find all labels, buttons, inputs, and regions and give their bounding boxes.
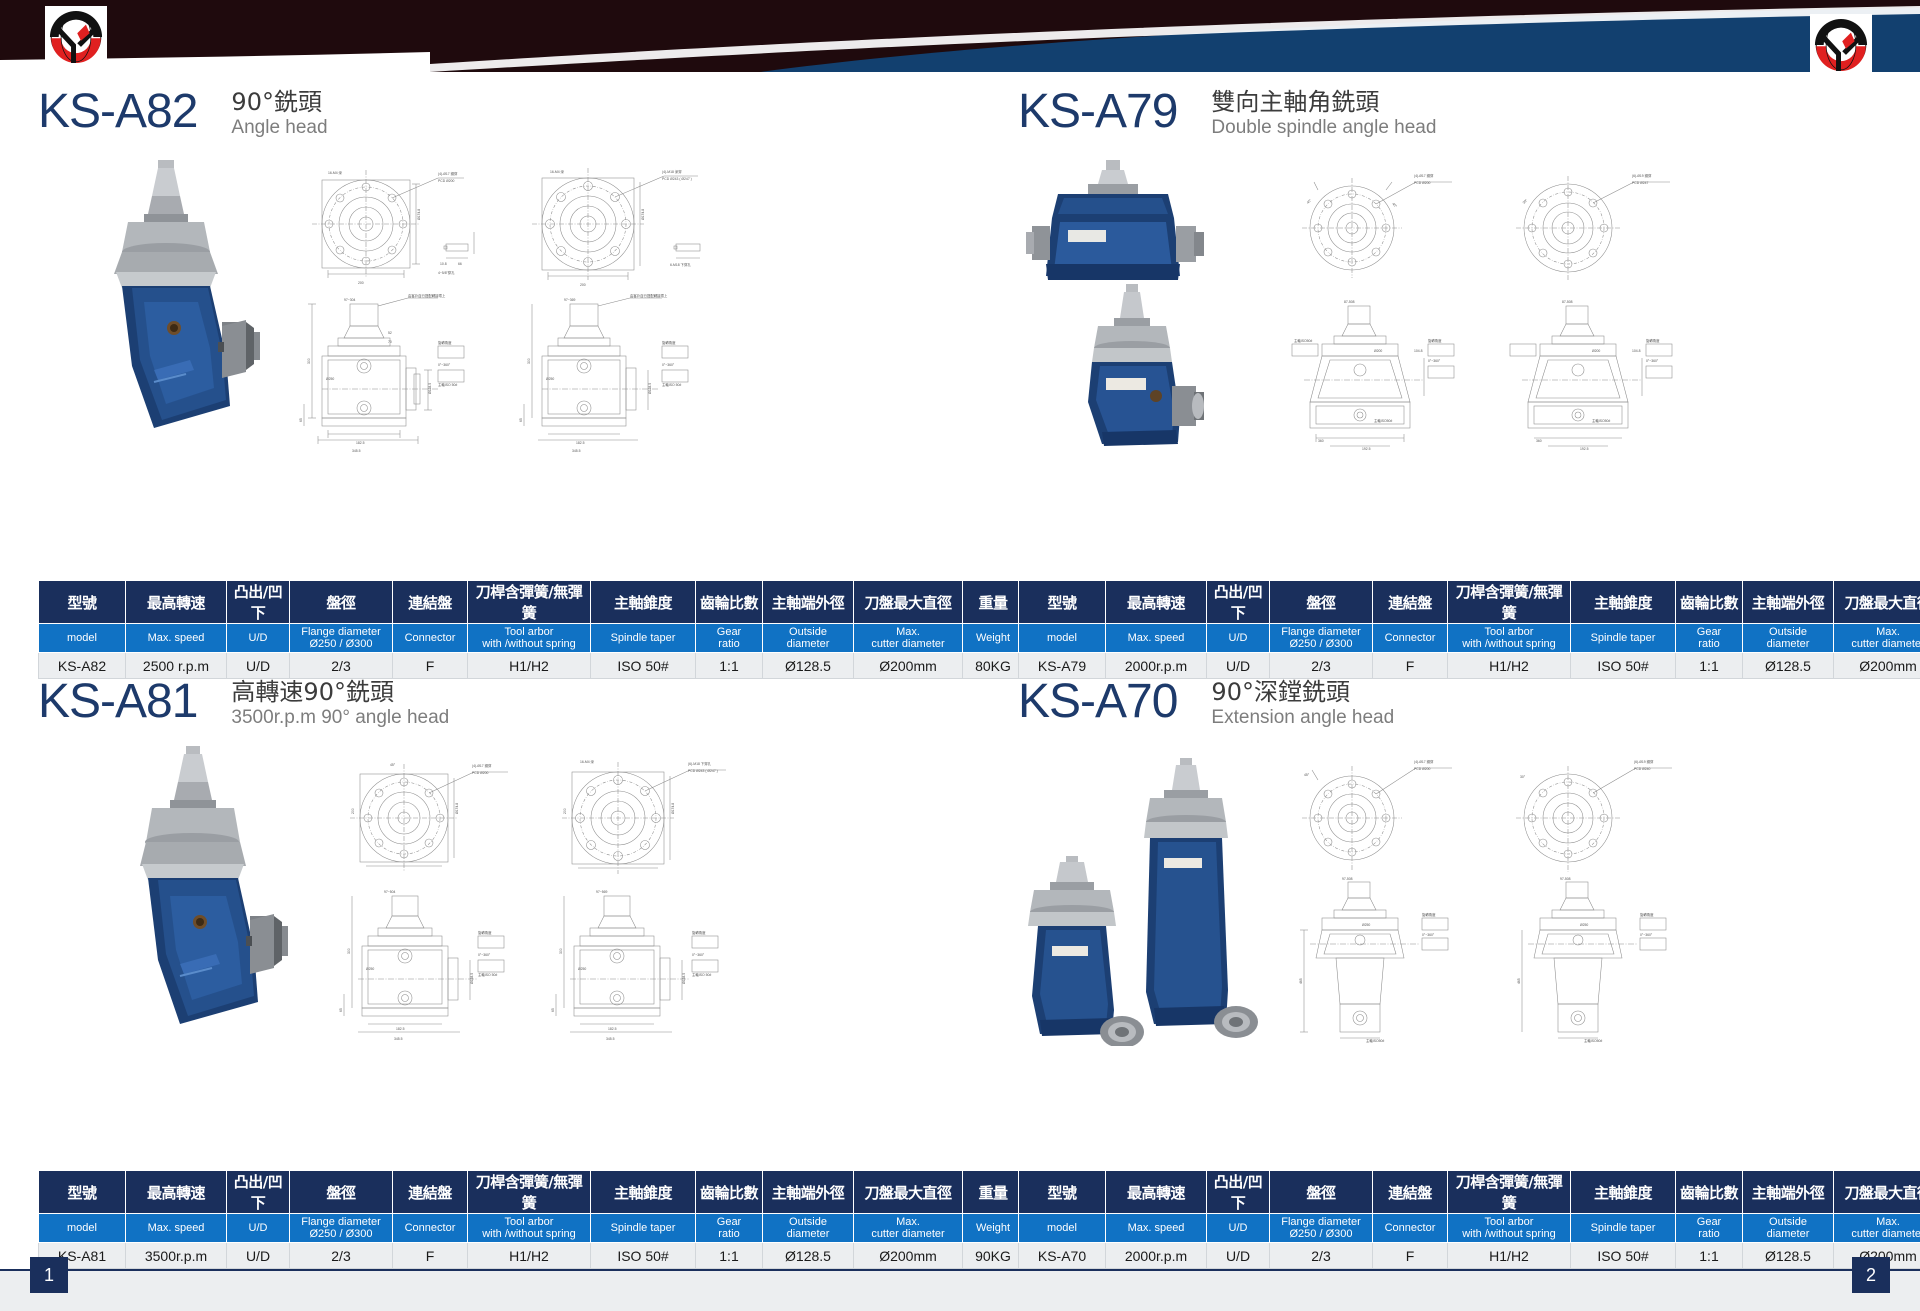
drawing-dim: 345.5 (572, 449, 581, 453)
spec-header-zh-weight: 重量 (963, 1171, 1024, 1214)
drawing-dim: 30° (1522, 198, 1529, 205)
spec-header-zh-cutter: 刀盤最大直徑 (854, 1171, 963, 1214)
txt: ratio (1698, 638, 1719, 650)
product-photo (1018, 746, 1268, 1046)
drawing-dim: 200 (563, 808, 567, 814)
txt: Gear (717, 1216, 741, 1228)
drawing-dim: Ø128.5 (682, 973, 686, 984)
spec-header-en-model: model (1019, 624, 1106, 653)
drawing-dim: 97~569 (596, 890, 608, 894)
txt: Tool arbor (505, 626, 554, 638)
drawing-dim: 300 (559, 948, 563, 954)
product-title-row: KS-A82 90°銑頭 Angle head (38, 86, 918, 148)
spec-header-zh-arbor: 刀桿含彈簧/無彈簧 (1448, 1171, 1571, 1214)
drawing-dim: 45° (1391, 202, 1398, 209)
txt: Gear (1697, 1216, 1721, 1228)
product-model-code: KS-A81 (38, 676, 197, 728)
spec-header-zh-ud: 凸出/凹下 (1207, 1171, 1270, 1214)
product-figure-ks-a79: (4)-Ø17 鑽穿 PCD Ø200 45° 45° (6)-Ø1 (1018, 156, 1898, 456)
spec-value-arbor: H1/H2 (468, 653, 591, 679)
spec-header-en-arbor: Tool arborwith /without spring (468, 1214, 591, 1243)
drawing-dim: Ø128.5 (428, 383, 432, 394)
technical-drawing-section-left: 97~304 由客戶自行搭配轉接環上 52 70 182.5 345.5 300… (288, 294, 503, 456)
drawing-note: 0°~360° (1422, 933, 1435, 937)
technical-drawing-flange-front: 45° (4)-Ø17 鑽穿 PCD Ø200 Ø174.8 200 (328, 752, 528, 882)
drawing-note: 旋轉角度 (1640, 912, 1654, 917)
txt: model (67, 1222, 97, 1234)
product-title-en: Extension angle head (1211, 706, 1394, 729)
product-block-ks-a82: KS-A82 90°銑頭 Angle head (38, 86, 918, 456)
technical-drawing-section-right: 97~569 182.5 345.5 300 65 Ø128.5 旋轉角度 0°… (538, 884, 748, 1046)
product-figure-ks-a81: 45° (4)-Ø17 鑽穿 PCD Ø200 Ø174.8 200 (38, 746, 918, 1046)
product-title-en: Angle head (231, 116, 327, 139)
spec-header-en-flange: Flange diameterØ250 / Ø300 (290, 1214, 393, 1243)
txt: cutter diameter (871, 638, 944, 650)
drawing-note: 4~5/8"穿孔 (438, 270, 455, 275)
txt: Max. (1876, 626, 1900, 638)
drawing-dim: Ø174.8 (671, 803, 675, 814)
drawing-note: (6)-Ø19 鑽穿 (1632, 173, 1652, 178)
drawing-note: 旋轉角度 (1428, 338, 1442, 343)
txt: Ø250 / Ø300 (310, 638, 373, 650)
page-number-left: 1 (30, 1257, 68, 1293)
spec-header-zh-outside: 主軸端外徑 (763, 581, 854, 624)
drawing-dim: 45° (1306, 198, 1313, 205)
logo-mark-icon (45, 6, 107, 68)
drawing-dim: 465 (1517, 978, 1521, 984)
txt: Connector (405, 1222, 456, 1234)
spec-header-en-gear: Gearratio (696, 624, 763, 653)
spec-header-zh-model: 型號 (1019, 1171, 1106, 1214)
drawing-note: 0°~360° (478, 953, 491, 957)
spec-header-zh-speed: 最高轉速 (1106, 581, 1207, 624)
company-logo-left (45, 6, 107, 68)
spec-header-zh-arbor: 刀桿含彈簧/無彈簧 (1448, 581, 1571, 624)
drawing-dim: 65 (551, 1008, 555, 1012)
spec-header-en-cutter: Max.cutter diameter (854, 1214, 963, 1243)
technical-drawing-flange-rear: 16-M4 深 (6)-M18 下穿孔 PCD Ø243 ( Ø247 ) Ø1… (538, 752, 743, 882)
spec-value-connector: F (393, 653, 468, 679)
spec-value-gear: 1:1 (696, 653, 763, 679)
technical-drawing-flange-front: (4)-Ø17 鑽穿 PCD Ø200 45° (1274, 750, 1474, 882)
txt: Ø250 / Ø300 (310, 1228, 373, 1240)
spec-header-en-row: model Max. speed U/D Flange diameterØ250… (39, 624, 1024, 653)
drawing-note: PCD Ø200 (472, 771, 489, 775)
product-block-ks-a81: KS-A81 高轉速90°銑頭 3500r.p.m 90° angle head (38, 676, 918, 1046)
spec-header-zh-row: 型號 最高轉速 凸出/凹下 盤徑 連結盤 刀桿含彈簧/無彈簧 主軸錐度 齒輪比數… (39, 1171, 1024, 1214)
spec-value-taper: ISO 50# (591, 653, 696, 679)
spec-value-cutter: Ø200mm (1834, 653, 1920, 679)
spec-header-zh-outside: 主軸端外徑 (763, 1171, 854, 1214)
drawing-note: (4)-Ø17 鑽穿 (1414, 173, 1434, 178)
technical-drawing-flange-rear: 16-M4 深 (4)-M18 深穿 PCD Ø243 ( Ø247 ) 200… (506, 162, 721, 292)
spec-header-zh-taper: 主軸錐度 (591, 1171, 696, 1214)
txt: model (1047, 1222, 1077, 1234)
spec-value-flange: 2/3 (1270, 653, 1373, 679)
spec-header-en-flange: Flange diameterØ250 / Ø300 (1270, 1214, 1373, 1243)
spec-header-en-weight: Weight (963, 624, 1024, 653)
drawing-note: PCD Ø200 (1414, 181, 1431, 185)
spec-header-en-taper: Spindle taper (591, 1214, 696, 1243)
drawing-dim: 65 (519, 418, 523, 422)
product-photo (1018, 156, 1268, 456)
spec-header-zh-cutter: 刀盤最大直徑 (1834, 1171, 1920, 1214)
drawing-dim: 97~504 (384, 890, 396, 894)
logo-mark-icon (1810, 14, 1872, 72)
txt: ratio (718, 1228, 739, 1240)
drawing-note: 旋轉角度 (692, 930, 706, 935)
drawing-note: 主軸ISO 50# (692, 972, 711, 977)
spec-header-zh-ud: 凸出/凹下 (227, 581, 290, 624)
txt: with /without spring (482, 638, 576, 650)
txt: with /without spring (1462, 638, 1556, 650)
spec-header-en-flange: Flange diameterØ250 / Ø300 (290, 624, 393, 653)
spec-header-en-model: model (39, 624, 126, 653)
product-title-en: Double spindle angle head (1211, 116, 1436, 139)
drawing-dim: 200 (580, 283, 586, 287)
txt: Connector (405, 632, 456, 644)
drawing-note: PCD Ø243 ( Ø247 ) (662, 177, 692, 181)
drawing-dim: Ø250 (546, 377, 554, 381)
drawing-dim: 360 (1318, 439, 1324, 443)
product-model-code: KS-A82 (38, 86, 197, 138)
spec-header-en-speed: Max. speed (126, 624, 227, 653)
drawing-dim: 97~369 (564, 298, 576, 302)
spec-table-ks-a82: 型號 最高轉速 凸出/凹下 盤徑 連結盤 刀桿含彈簧/無彈簧 主軸錐度 齒輪比數… (38, 580, 1024, 679)
drawing-note: 主軸ISO50# (1584, 1038, 1602, 1043)
drawing-dim: 182.5 (356, 441, 365, 445)
spec-header-en-cutter: Max.cutter diameter (1834, 1214, 1920, 1243)
txt: Outside (1769, 626, 1807, 638)
technical-drawing-section-right: 97-508 Ø250 465 旋轉角度 0°~360° 主軸ISO50# (1490, 874, 1705, 1046)
drawing-dim: 345.5 (606, 1037, 615, 1041)
drawing-dim: 182.5 (608, 1027, 617, 1031)
spec-value-row: KS-A82 2500 r.p.m U/D 2/3 F H1/H2 ISO 50… (39, 653, 1024, 679)
spec-header-zh-row: 型號 最高轉速 凸出/凹下 盤徑 連結盤 刀桿含彈簧/無彈簧 主軸錐度 齒輪比數… (1019, 1171, 1920, 1214)
page-number-right: 2 (1852, 1257, 1890, 1293)
drawing-note: 旋轉角度 (1646, 338, 1660, 343)
drawing-dim: 87-508 (1344, 300, 1355, 304)
drawing-dim: 345.5 (394, 1037, 403, 1041)
spec-header-zh-ud: 凸出/凹下 (227, 1171, 290, 1214)
drawing-dim: 200 (351, 808, 355, 814)
spec-table-ks-a81: 型號 最高轉速 凸出/凹下 盤徑 連結盤 刀桿含彈簧/無彈簧 主軸錐度 齒輪比數… (38, 1170, 1024, 1269)
drawing-dim: 192.5 (1580, 447, 1589, 451)
spec-header-zh-model: 型號 (39, 1171, 126, 1214)
drawing-dim: 465 (1299, 978, 1303, 984)
txt: Outside (1769, 1216, 1807, 1228)
drawing-note: 主軸ISO50# (1592, 418, 1610, 423)
drawing-note: 0°~360° (1646, 359, 1659, 363)
spec-header-zh-outside: 主軸端外徑 (1743, 1171, 1834, 1214)
product-title-zh: 高轉速90°銑頭 (231, 678, 449, 706)
txt: U/D (1229, 632, 1248, 644)
drawing-dim: 45° (1304, 773, 1310, 777)
product-figure-ks-a82: 16-M4 深 (4)-Ø17 鑽穿 PCD Ø200 200 10.8 66 … (38, 156, 918, 456)
drawing-note: 旋轉角度 (478, 930, 492, 935)
spec-header-en-flange: Flange diameterØ250 / Ø300 (1270, 624, 1373, 653)
drawing-dim: 65 (339, 1008, 343, 1012)
drawing-dim: Ø250 (1362, 923, 1370, 927)
spec-value-model: KS-A79 (1019, 653, 1106, 679)
spec-header-zh-gear: 齒輪比數 (1676, 581, 1743, 624)
product-title-row: KS-A81 高轉速90°銑頭 3500r.p.m 90° angle head (38, 676, 918, 738)
spec-header-en-row: model Max. speed U/D Flange diameterØ250… (39, 1214, 1024, 1243)
spec-header-en-model: model (39, 1214, 126, 1243)
drawing-note: 主軸ISO 50# (438, 382, 457, 387)
spec-header-zh-connector: 連結盤 (1373, 1171, 1448, 1214)
drawing-note: (6)-M18 下穿孔 (688, 761, 712, 766)
txt: Spindle taper (611, 632, 676, 644)
header-swoosh-graphic (0, 0, 1920, 72)
txt: Max. speed (148, 632, 205, 644)
drawing-dim: Ø250 (366, 967, 374, 971)
drawing-note: 16-M4 深 (580, 759, 595, 764)
drawing-note: PCD Ø200 (438, 179, 455, 183)
txt: with /without spring (1462, 1228, 1556, 1240)
drawing-dim: Ø200 (1592, 349, 1600, 353)
technical-drawing-section-right: 87-508 Ø200 104.8 360 192.5 旋轉角度 0°~360°… (1490, 292, 1705, 456)
txt: Flange diameter (1281, 1216, 1361, 1228)
drawing-note: 0°~360° (1428, 359, 1441, 363)
spec-value-arbor: H1/H2 (1448, 653, 1571, 679)
drawing-note: 主軸ISO 50# (662, 382, 681, 387)
drawing-dim: 70 (388, 340, 392, 344)
spec-header-zh-model: 型號 (39, 581, 126, 624)
spec-header-en-arbor: Tool arborwith /without spring (468, 624, 591, 653)
drawing-note: 旋轉角度 (1422, 912, 1436, 917)
drawing-dim: 360 (1536, 439, 1542, 443)
txt: U/D (249, 1222, 268, 1234)
drawing-dim: 192.5 (1362, 447, 1371, 451)
spec-header-en-cutter: Max.cutter diameter (854, 624, 963, 653)
spec-header-zh-connector: 連結盤 (393, 1171, 468, 1214)
spec-header-zh-taper: 主軸錐度 (1571, 1171, 1676, 1214)
product-photo (58, 156, 298, 456)
txt: Weight (976, 632, 1010, 644)
spec-header-en-connector: Connector (1373, 1214, 1448, 1243)
spec-header-zh-ud: 凸出/凹下 (1207, 581, 1270, 624)
txt: Max. speed (1128, 632, 1185, 644)
spec-table-ks-a79: 型號 最高轉速 凸出/凹下 盤徑 連結盤 刀桿含彈簧/無彈簧 主軸錐度 齒輪比數… (1018, 580, 1920, 679)
drawing-dim: 66 (458, 262, 462, 266)
spec-header-en-outside: Outsidediameter (1743, 1214, 1834, 1243)
spec-header-en-row: model Max. speed U/D Flange diameterØ250… (1019, 1214, 1920, 1243)
txt: Outside (789, 626, 827, 638)
spec-table-ks-a70: 型號 最高轉速 凸出/凹下 盤徑 連結盤 刀桿含彈簧/無彈簧 主軸錐度 齒輪比數… (1018, 1170, 1920, 1269)
drawing-dim: Ø174.8 (417, 209, 421, 220)
drawing-note: (6)-Ø19 鑽穿 (1634, 759, 1654, 764)
drawing-dim: Ø250 (1580, 923, 1588, 927)
spec-header-zh-outside: 主軸端外徑 (1743, 581, 1834, 624)
txt: Flange diameter (301, 626, 381, 638)
spec-header-zh-taper: 主軸錐度 (591, 581, 696, 624)
technical-drawing-flange-rear: (6)-Ø19 鑽穿 PCD Ø240 30° (1488, 750, 1688, 882)
drawing-dim: Ø200 (1374, 349, 1382, 353)
product-photo (78, 746, 318, 1046)
spec-header-zh-arbor: 刀桿含彈簧/無彈簧 (468, 1171, 591, 1214)
drawing-dim: 182.5 (396, 1027, 405, 1031)
drawing-dim: Ø128.5 (470, 973, 474, 984)
spec-header-zh-gear: 齒輪比數 (696, 1171, 763, 1214)
txt: cutter diameter (1851, 1228, 1920, 1240)
spec-header-en-outside: Outsidediameter (763, 624, 854, 653)
txt: ratio (1698, 1228, 1719, 1240)
txt: Flange diameter (1281, 626, 1361, 638)
spec-header-en-arbor: Tool arborwith /without spring (1448, 1214, 1571, 1243)
txt: diameter (787, 638, 830, 650)
txt: Max. (896, 1216, 920, 1228)
product-title-en: 3500r.p.m 90° angle head (231, 706, 449, 729)
spec-header-en-taper: Spindle taper (591, 624, 696, 653)
technical-drawing-flange-rear: (6)-Ø19 鑽穿 PCD Ø247 30° (1488, 164, 1688, 292)
drawing-note: 由客戶自行搭配轉接環上 (630, 294, 668, 298)
company-logo-right (1810, 14, 1872, 72)
spec-header-zh-flange: 盤徑 (1270, 581, 1373, 624)
drawing-note: 0°~360° (1640, 933, 1653, 937)
txt: with /without spring (482, 1228, 576, 1240)
drawing-dim: Ø250 (326, 377, 334, 381)
drawing-note: (4)-Ø17 鑽穿 (472, 763, 492, 768)
txt: model (67, 632, 97, 644)
drawing-note: 0°~360° (662, 363, 675, 367)
drawing-dim: Ø250 (578, 967, 586, 971)
txt: Weight (976, 1222, 1010, 1234)
drawing-note: (4)-Ø17 鑽穿 (438, 171, 458, 176)
txt: Spindle taper (1591, 632, 1656, 644)
txt: Ø250 / Ø300 (1290, 638, 1353, 650)
spec-header-zh-row: 型號 最高轉速 凸出/凹下 盤徑 連結盤 刀桿含彈簧/無彈簧 主軸錐度 齒輪比數… (39, 581, 1024, 624)
txt: Max. (896, 626, 920, 638)
spec-header-en-gear: Gearratio (696, 1214, 763, 1243)
drawing-dim: 300 (347, 948, 351, 954)
spec-header-en-arbor: Tool arborwith /without spring (1448, 624, 1571, 653)
spec-header-zh-speed: 最高轉速 (1106, 1171, 1207, 1214)
product-title-zh: 90°銑頭 (231, 88, 327, 116)
drawing-note: 6-M18 下穿孔 (670, 262, 691, 267)
drawing-dim: 300 (527, 358, 531, 364)
txt: Max. speed (148, 1222, 205, 1234)
spec-header-en-row: model Max. speed U/D Flange diameterØ250… (1019, 624, 1920, 653)
drawing-note: 0°~360° (692, 953, 705, 957)
technical-drawing-flange-front: 16-M4 深 (4)-Ø17 鑽穿 PCD Ø200 200 10.8 66 … (288, 162, 498, 292)
spec-header-en-speed: Max. speed (1106, 624, 1207, 653)
technical-drawing-section-left: 87-508 Ø200 104.8 360 192.5 旋轉角度 0°~360°… (1274, 292, 1489, 456)
drawing-note: 16-M4 深 (550, 169, 565, 174)
txt: Gear (717, 626, 741, 638)
spec-header-en-speed: Max. speed (126, 1214, 227, 1243)
drawing-note: 主軸ISO50# (1374, 418, 1392, 423)
spec-header-zh-gear: 齒輪比數 (696, 581, 763, 624)
spec-header-en-speed: Max. speed (1106, 1214, 1207, 1243)
product-block-ks-a70: KS-A70 90°深鏜銑頭 Extension angle head (1018, 676, 1898, 1046)
product-title-row: KS-A70 90°深鏜銑頭 Extension angle head (1018, 676, 1898, 738)
txt: diameter (1767, 1228, 1810, 1240)
drawing-note: 主軸ISO50# (1294, 338, 1312, 343)
product-title-zh: 雙向主軸角銑頭 (1211, 88, 1436, 116)
txt: Connector (1385, 1222, 1436, 1234)
drawing-note: 0°~360° (438, 363, 451, 367)
spec-header-zh-connector: 連結盤 (393, 581, 468, 624)
txt: model (1047, 632, 1077, 644)
spec-value-speed: 2500 r.p.m (126, 653, 227, 679)
drawing-note: 主軸ISO 50# (478, 972, 497, 977)
spec-value-connector: F (1373, 653, 1448, 679)
technical-drawing-section-left: 97-508 Ø250 465 旋轉角度 0°~360° 主軸ISO50# (1274, 874, 1489, 1046)
drawing-dim: 200 (358, 281, 364, 285)
drawing-note: 由客戶自行搭配轉接環上 (408, 294, 446, 298)
txt: Ø250 / Ø300 (1290, 1228, 1353, 1240)
txt: ratio (718, 638, 739, 650)
drawing-dim: 10.8 (440, 262, 447, 266)
spec-header-zh-connector: 連結盤 (1373, 581, 1448, 624)
txt: diameter (1767, 638, 1810, 650)
spec-value-ud: U/D (227, 653, 290, 679)
spec-header-en-ud: U/D (227, 624, 290, 653)
spec-value-weight: 80KG (963, 653, 1024, 679)
spec-header-en-ud: U/D (1207, 1214, 1270, 1243)
drawing-note: PCD Ø243 ( Ø247 ) (688, 769, 718, 773)
txt: Spindle taper (1591, 1222, 1656, 1234)
spec-header-en-outside: Outsidediameter (1743, 624, 1834, 653)
spec-value-speed: 2000r.p.m (1106, 653, 1207, 679)
spec-header-zh-taper: 主軸錐度 (1571, 581, 1676, 624)
spec-header-zh-gear: 齒輪比數 (1676, 1171, 1743, 1214)
drawing-dim: Ø174.8 (455, 803, 459, 814)
txt: U/D (249, 632, 268, 644)
spec-header-en-model: model (1019, 1214, 1106, 1243)
drawing-dim: 104.8 (1632, 349, 1641, 353)
spec-header-en-ud: U/D (1207, 624, 1270, 653)
txt: Spindle taper (611, 1222, 676, 1234)
txt: cutter diameter (871, 1228, 944, 1240)
drawing-note: (4)-Ø17 鑽穿 (1414, 759, 1434, 764)
spec-header-en-taper: Spindle taper (1571, 1214, 1676, 1243)
drawing-dim: 87-508 (1562, 300, 1573, 304)
product-figure-ks-a70: (4)-Ø17 鑽穿 PCD Ø200 45° (6)-Ø19 鑽穿 (1018, 746, 1898, 1046)
txt: Outside (789, 1216, 827, 1228)
spec-header-en-ud: U/D (227, 1214, 290, 1243)
txt: Connector (1385, 632, 1436, 644)
spec-header-zh-flange: 盤徑 (290, 581, 393, 624)
spec-header-zh-speed: 最高轉速 (126, 581, 227, 624)
spec-value-taper: ISO 50# (1571, 653, 1676, 679)
product-block-ks-a79: KS-A79 雙向主軸角銑頭 Double spindle angle head (1018, 86, 1898, 456)
drawing-dim: 30° (1520, 775, 1526, 779)
page-footer: 1 2 (0, 1257, 1920, 1311)
spec-value-row: KS-A79 2000r.p.m U/D 2/3 F H1/H2 ISO 50#… (1019, 653, 1920, 679)
spec-value-outside: Ø128.5 (763, 653, 854, 679)
drawing-note: 旋轉角度 (662, 340, 676, 345)
spec-header-zh-arbor: 刀桿含彈簧/無彈簧 (468, 581, 591, 624)
drawing-dim: Ø174.8 (641, 209, 645, 220)
product-model-code: KS-A70 (1018, 676, 1177, 728)
drawing-note: PCD Ø247 (1632, 181, 1649, 185)
technical-drawing-section-right: 97~369 由客戶自行搭配轉接環上 182.5 345.5 300 65 Ø1… (506, 294, 721, 456)
drawing-dim: 97~304 (344, 298, 356, 302)
drawing-dim: 45° (390, 763, 396, 767)
technical-drawing-section-left: 97~504 182.5 345.5 300 65 Ø128.5 旋轉角度 0°… (328, 884, 538, 1046)
txt: U/D (1229, 1222, 1248, 1234)
drawing-note: 旋轉角度 (438, 340, 452, 345)
drawing-dim: 345.5 (352, 449, 361, 453)
txt: Tool arbor (1485, 1216, 1534, 1228)
drawing-dim: 97-508 (1560, 877, 1571, 881)
txt: Gear (1697, 626, 1721, 638)
drawing-dim: 300 (307, 358, 311, 364)
spec-header-zh-cutter: 刀盤最大直徑 (1834, 581, 1920, 624)
spec-value-outside: Ø128.5 (1743, 653, 1834, 679)
